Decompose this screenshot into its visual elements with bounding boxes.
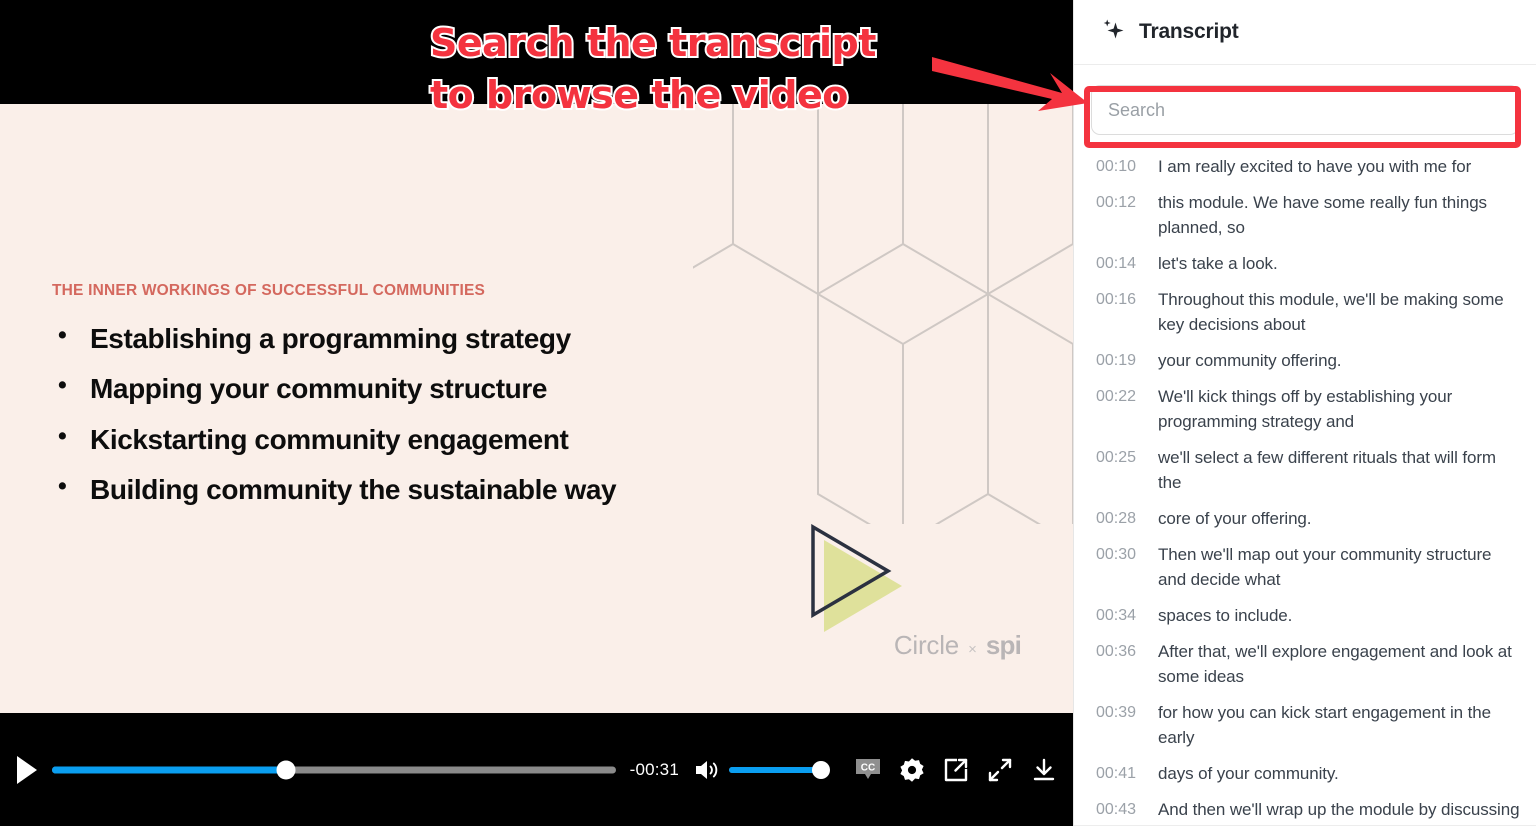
cue-text: Then we'll map out your community struct… bbox=[1158, 542, 1520, 592]
cue-timestamp: 00:34 bbox=[1096, 603, 1142, 628]
cue-text: for how you can kick start engagement in… bbox=[1158, 700, 1520, 750]
cue-timestamp: 00:39 bbox=[1096, 700, 1142, 725]
seek-slider[interactable] bbox=[52, 759, 616, 781]
transcript-cue[interactable]: 00:30Then we'll map out your community s… bbox=[1092, 536, 1524, 597]
volume-fill bbox=[729, 767, 821, 773]
time-remaining-label: -00:31 bbox=[630, 760, 679, 780]
cue-text: core of your offering. bbox=[1158, 506, 1520, 531]
cue-timestamp: 00:36 bbox=[1096, 639, 1142, 664]
brand-x-separator: × bbox=[968, 641, 977, 658]
cue-timestamp: 00:19 bbox=[1096, 348, 1142, 373]
cue-timestamp: 00:43 bbox=[1096, 797, 1142, 822]
cue-timestamp: 00:14 bbox=[1096, 251, 1142, 276]
expand-arrows-icon bbox=[987, 757, 1013, 783]
transcript-panel: Transcript 00:10I am really excited to h… bbox=[1073, 0, 1536, 826]
cue-text: Throughout this module, we'll be making … bbox=[1158, 287, 1520, 337]
brand-spi-label: spi bbox=[986, 630, 1021, 661]
transcript-cue[interactable]: 00:36After that, we'll explore engagemen… bbox=[1092, 633, 1524, 694]
transcript-cue[interactable]: 00:16Throughout this module, we'll be ma… bbox=[1092, 281, 1524, 342]
cue-text: spaces to include. bbox=[1158, 603, 1520, 628]
settings-button[interactable] bbox=[897, 755, 927, 785]
slide-bullet: Establishing a programming strategy bbox=[52, 321, 812, 356]
cue-timestamp: 00:22 bbox=[1096, 384, 1142, 409]
gear-icon bbox=[898, 756, 926, 784]
transcript-header: Transcript bbox=[1074, 0, 1536, 65]
transcript-cue[interactable]: 00:14let's take a look. bbox=[1092, 245, 1524, 281]
volume-button[interactable] bbox=[693, 756, 721, 784]
cue-text: days of your community. bbox=[1158, 761, 1520, 786]
slide-content: THE INNER WORKINGS OF SUCCESSFUL COMMUNI… bbox=[52, 282, 812, 522]
cue-text: we'll select a few different rituals tha… bbox=[1158, 445, 1520, 495]
search-box[interactable] bbox=[1091, 85, 1519, 135]
brand-circle-label: Circle bbox=[894, 630, 959, 661]
transcript-cue[interactable]: 00:41days of your community. bbox=[1092, 755, 1524, 791]
popout-button[interactable] bbox=[941, 755, 971, 785]
transcript-title: Transcript bbox=[1139, 20, 1239, 44]
external-link-icon bbox=[943, 757, 969, 783]
transcript-cue[interactable]: 00:39for how you can kick start engageme… bbox=[1092, 694, 1524, 755]
captions-button[interactable]: CC bbox=[853, 755, 883, 785]
video-stage[interactable]: THE INNER WORKINGS OF SUCCESSFUL COMMUNI… bbox=[0, 104, 1073, 713]
cue-timestamp: 00:16 bbox=[1096, 287, 1142, 312]
fullscreen-button[interactable] bbox=[985, 755, 1015, 785]
video-player[interactable]: THE INNER WORKINGS OF SUCCESSFUL COMMUNI… bbox=[0, 0, 1073, 826]
cue-text: I am really excited to have you with me … bbox=[1158, 154, 1520, 179]
video-control-bar[interactable]: -00:31 CC bbox=[0, 713, 1073, 826]
seek-progress-fill bbox=[52, 766, 286, 773]
cue-timestamp: 00:41 bbox=[1096, 761, 1142, 786]
cue-timestamp: 00:12 bbox=[1096, 190, 1142, 215]
volume-slider[interactable] bbox=[729, 759, 821, 781]
cue-text: this module. We have some really fun thi… bbox=[1158, 190, 1520, 240]
transcript-cue[interactable]: 00:10I am really excited to have you wit… bbox=[1092, 148, 1524, 184]
slide-kicker: THE INNER WORKINGS OF SUCCESSFUL COMMUNI… bbox=[52, 282, 812, 300]
transcript-cue[interactable]: 00:34spaces to include. bbox=[1092, 597, 1524, 633]
cue-text: let's take a look. bbox=[1158, 251, 1520, 276]
cue-text: After that, we'll explore engagement and… bbox=[1158, 639, 1520, 689]
transcript-cue[interactable]: 00:43And then we'll wrap up the module b… bbox=[1092, 791, 1524, 826]
brand-lockup: Circle × spi bbox=[894, 630, 1021, 661]
cue-timestamp: 00:28 bbox=[1096, 506, 1142, 531]
cue-timestamp: 00:25 bbox=[1096, 445, 1142, 470]
cue-timestamp: 00:10 bbox=[1096, 154, 1142, 179]
transcript-search-zone bbox=[1074, 65, 1536, 144]
slide-bullet-list: Establishing a programming strategy Mapp… bbox=[52, 321, 812, 507]
slide-bullet: Mapping your community structure bbox=[52, 371, 812, 406]
play-button[interactable] bbox=[10, 753, 44, 787]
cue-text: And then we'll wrap up the module by dis… bbox=[1158, 797, 1520, 826]
slide-bullet: Kickstarting community engagement bbox=[52, 422, 812, 457]
volume-icon bbox=[694, 758, 720, 782]
download-button[interactable] bbox=[1029, 755, 1059, 785]
download-icon bbox=[1031, 757, 1057, 783]
transcript-cue[interactable]: 00:28core of your offering. bbox=[1092, 500, 1524, 536]
cue-text: your community offering. bbox=[1158, 348, 1520, 373]
search-input[interactable] bbox=[1108, 100, 1502, 121]
closed-captions-icon: CC bbox=[854, 757, 882, 783]
volume-handle[interactable] bbox=[812, 761, 830, 779]
svg-text:CC: CC bbox=[861, 762, 875, 773]
video-transcript-page: THE INNER WORKINGS OF SUCCESSFUL COMMUNI… bbox=[0, 0, 1536, 826]
play-icon bbox=[15, 755, 39, 785]
cue-timestamp: 00:30 bbox=[1096, 542, 1142, 567]
sparkle-icon bbox=[1101, 17, 1127, 48]
slide-bullet: Building community the sustainable way bbox=[52, 472, 812, 507]
transcript-cue[interactable]: 00:19your community offering. bbox=[1092, 342, 1524, 378]
seek-handle[interactable] bbox=[276, 760, 295, 779]
cue-text: We'll kick things off by establishing yo… bbox=[1158, 384, 1520, 434]
transcript-cue[interactable]: 00:12this module. We have some really fu… bbox=[1092, 184, 1524, 245]
transcript-cue[interactable]: 00:25we'll select a few different ritual… bbox=[1092, 439, 1524, 500]
transcript-cue-list[interactable]: 00:10I am really excited to have you wit… bbox=[1074, 144, 1536, 826]
transcript-cue[interactable]: 00:22We'll kick things off by establishi… bbox=[1092, 378, 1524, 439]
triangle-outline-shape bbox=[810, 524, 892, 618]
triangle-decoration bbox=[810, 524, 920, 629]
